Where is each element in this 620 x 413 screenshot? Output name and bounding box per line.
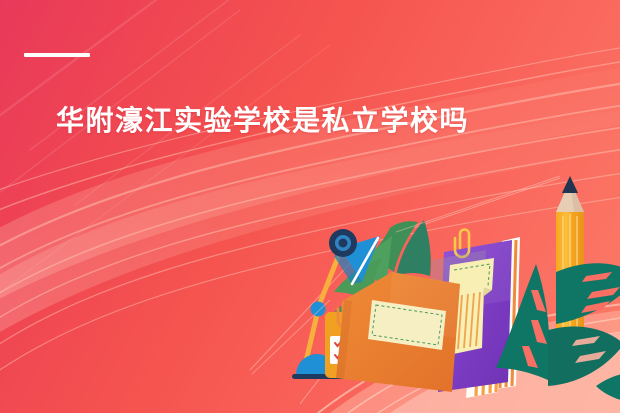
- title-accent-bar: [24, 53, 90, 57]
- lamp-joint: [311, 302, 326, 317]
- stationery-illustration: [0, 0, 620, 413]
- page-title: 华附濠江实验学校是私立学校吗: [56, 104, 469, 138]
- pencil-tip: [562, 176, 578, 193]
- promo-banner: 华附濠江实验学校是私立学校吗: [0, 0, 620, 413]
- pencil: [556, 176, 584, 352]
